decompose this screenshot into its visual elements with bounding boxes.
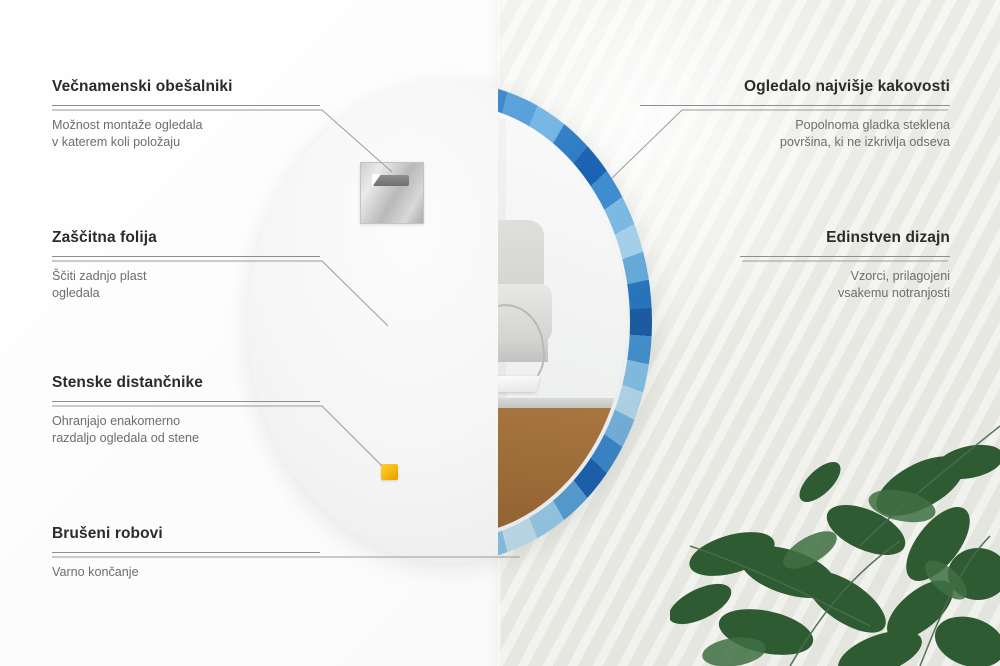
callout-protective-foil-title: Zaščitna folija: [52, 229, 320, 247]
callout-unique-design-desc: Vzorci, prilagojeni vsakemu notranjosti: [740, 268, 950, 301]
callout-wall-spacers: Stenske distančnike Ohranjajo enakomerno…: [52, 374, 320, 446]
callout-rule: [52, 256, 320, 257]
callout-rule: [52, 105, 320, 106]
callout-rule: [740, 256, 950, 257]
callout-polished-edges: Brušeni robovi Varno končanje: [52, 525, 432, 581]
callout-hangers-title: Večnamenski obešalniki: [52, 78, 320, 96]
callout-hangers-desc: Možnost montaže ogledala v katerem koli …: [52, 117, 320, 150]
infographic-canvas: Večnamenski obešalniki Možnost montaže o…: [0, 0, 1000, 666]
callout-top-quality-mirror-desc: Popolnoma gladka steklena površina, ki n…: [640, 117, 950, 150]
hanger-plate: [360, 162, 424, 224]
foliage-decoration: [670, 366, 1000, 666]
callout-unique-design: Edinstven dizajn Vzorci, prilagojeni vsa…: [740, 229, 950, 301]
callout-rule: [640, 105, 950, 106]
callout-unique-design-title: Edinstven dizajn: [740, 229, 950, 247]
yellow-wall-spacer: [381, 464, 398, 480]
mirror-product: [248, 82, 652, 562]
callout-top-quality-mirror: Ogledalo najvišje kakovosti Popolnoma gl…: [640, 78, 950, 150]
callout-rule: [52, 401, 320, 402]
hanger-keyhole-slot: [373, 175, 409, 186]
callout-top-quality-mirror-title: Ogledalo najvišje kakovosti: [640, 78, 950, 96]
callout-hangers: Večnamenski obešalniki Možnost montaže o…: [52, 78, 320, 150]
callout-protective-foil-desc: Ščiti zadnjo plast ogledala: [52, 268, 320, 301]
callout-rule: [52, 552, 320, 553]
callout-polished-edges-title: Brušeni robovi: [52, 525, 432, 543]
callout-wall-spacers-desc: Ohranjajo enakomerno razdaljo ogledala o…: [52, 413, 320, 446]
callout-protective-foil: Zaščitna folija Ščiti zadnjo plast ogled…: [52, 229, 320, 301]
callout-wall-spacers-title: Stenske distančnike: [52, 374, 320, 392]
callout-polished-edges-desc: Varno končanje: [52, 564, 432, 581]
